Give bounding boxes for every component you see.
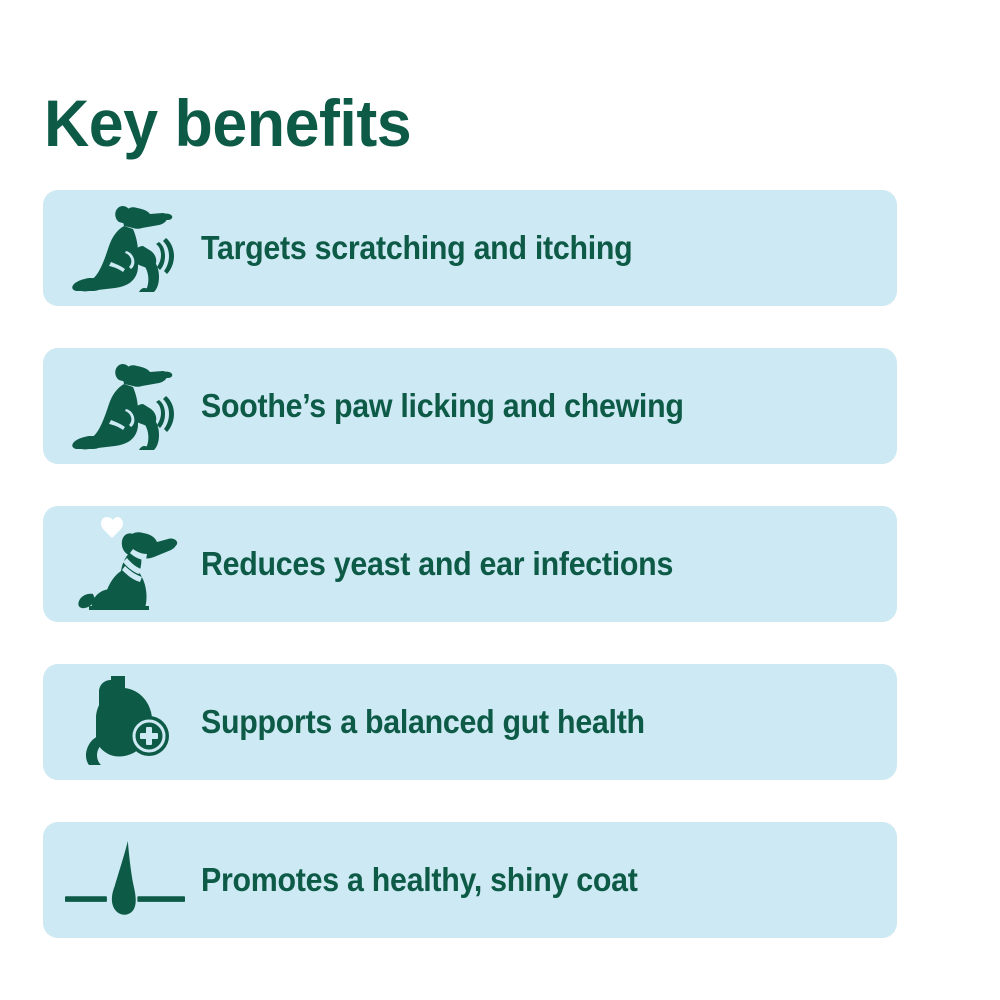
benefit-label: Supports a balanced gut health [201,703,645,741]
benefit-card-reduces-yeast[interactable]: Reduces yeast and ear infections [43,506,897,622]
heart-shape [101,517,123,538]
benefit-card-soothes-paw-licking[interactable]: Soothe’s paw licking and chewing [43,348,897,464]
dog-scratching-icon [65,198,185,298]
key-benefits-page: Key benefits [0,0,1000,1000]
stomach-plus-icon [65,672,185,772]
page-title: Key benefits [44,90,411,156]
benefit-card-gut-health[interactable]: Supports a balanced gut health [43,664,897,780]
dog-sitting-heart-icon [65,514,185,614]
dog-scratching-icon [65,356,185,456]
benefit-label: Soothe’s paw licking and chewing [201,387,684,425]
benefits-list: Targets scratching and itching [43,190,897,938]
hair-follicle-icon [65,830,185,930]
benefit-card-targets-scratching[interactable]: Targets scratching and itching [43,190,897,306]
benefit-label: Promotes a healthy, shiny coat [201,861,638,899]
benefit-label: Targets scratching and itching [201,229,632,267]
benefit-card-shiny-coat[interactable]: Promotes a healthy, shiny coat [43,822,897,938]
benefit-label: Reduces yeast and ear infections [201,545,673,583]
